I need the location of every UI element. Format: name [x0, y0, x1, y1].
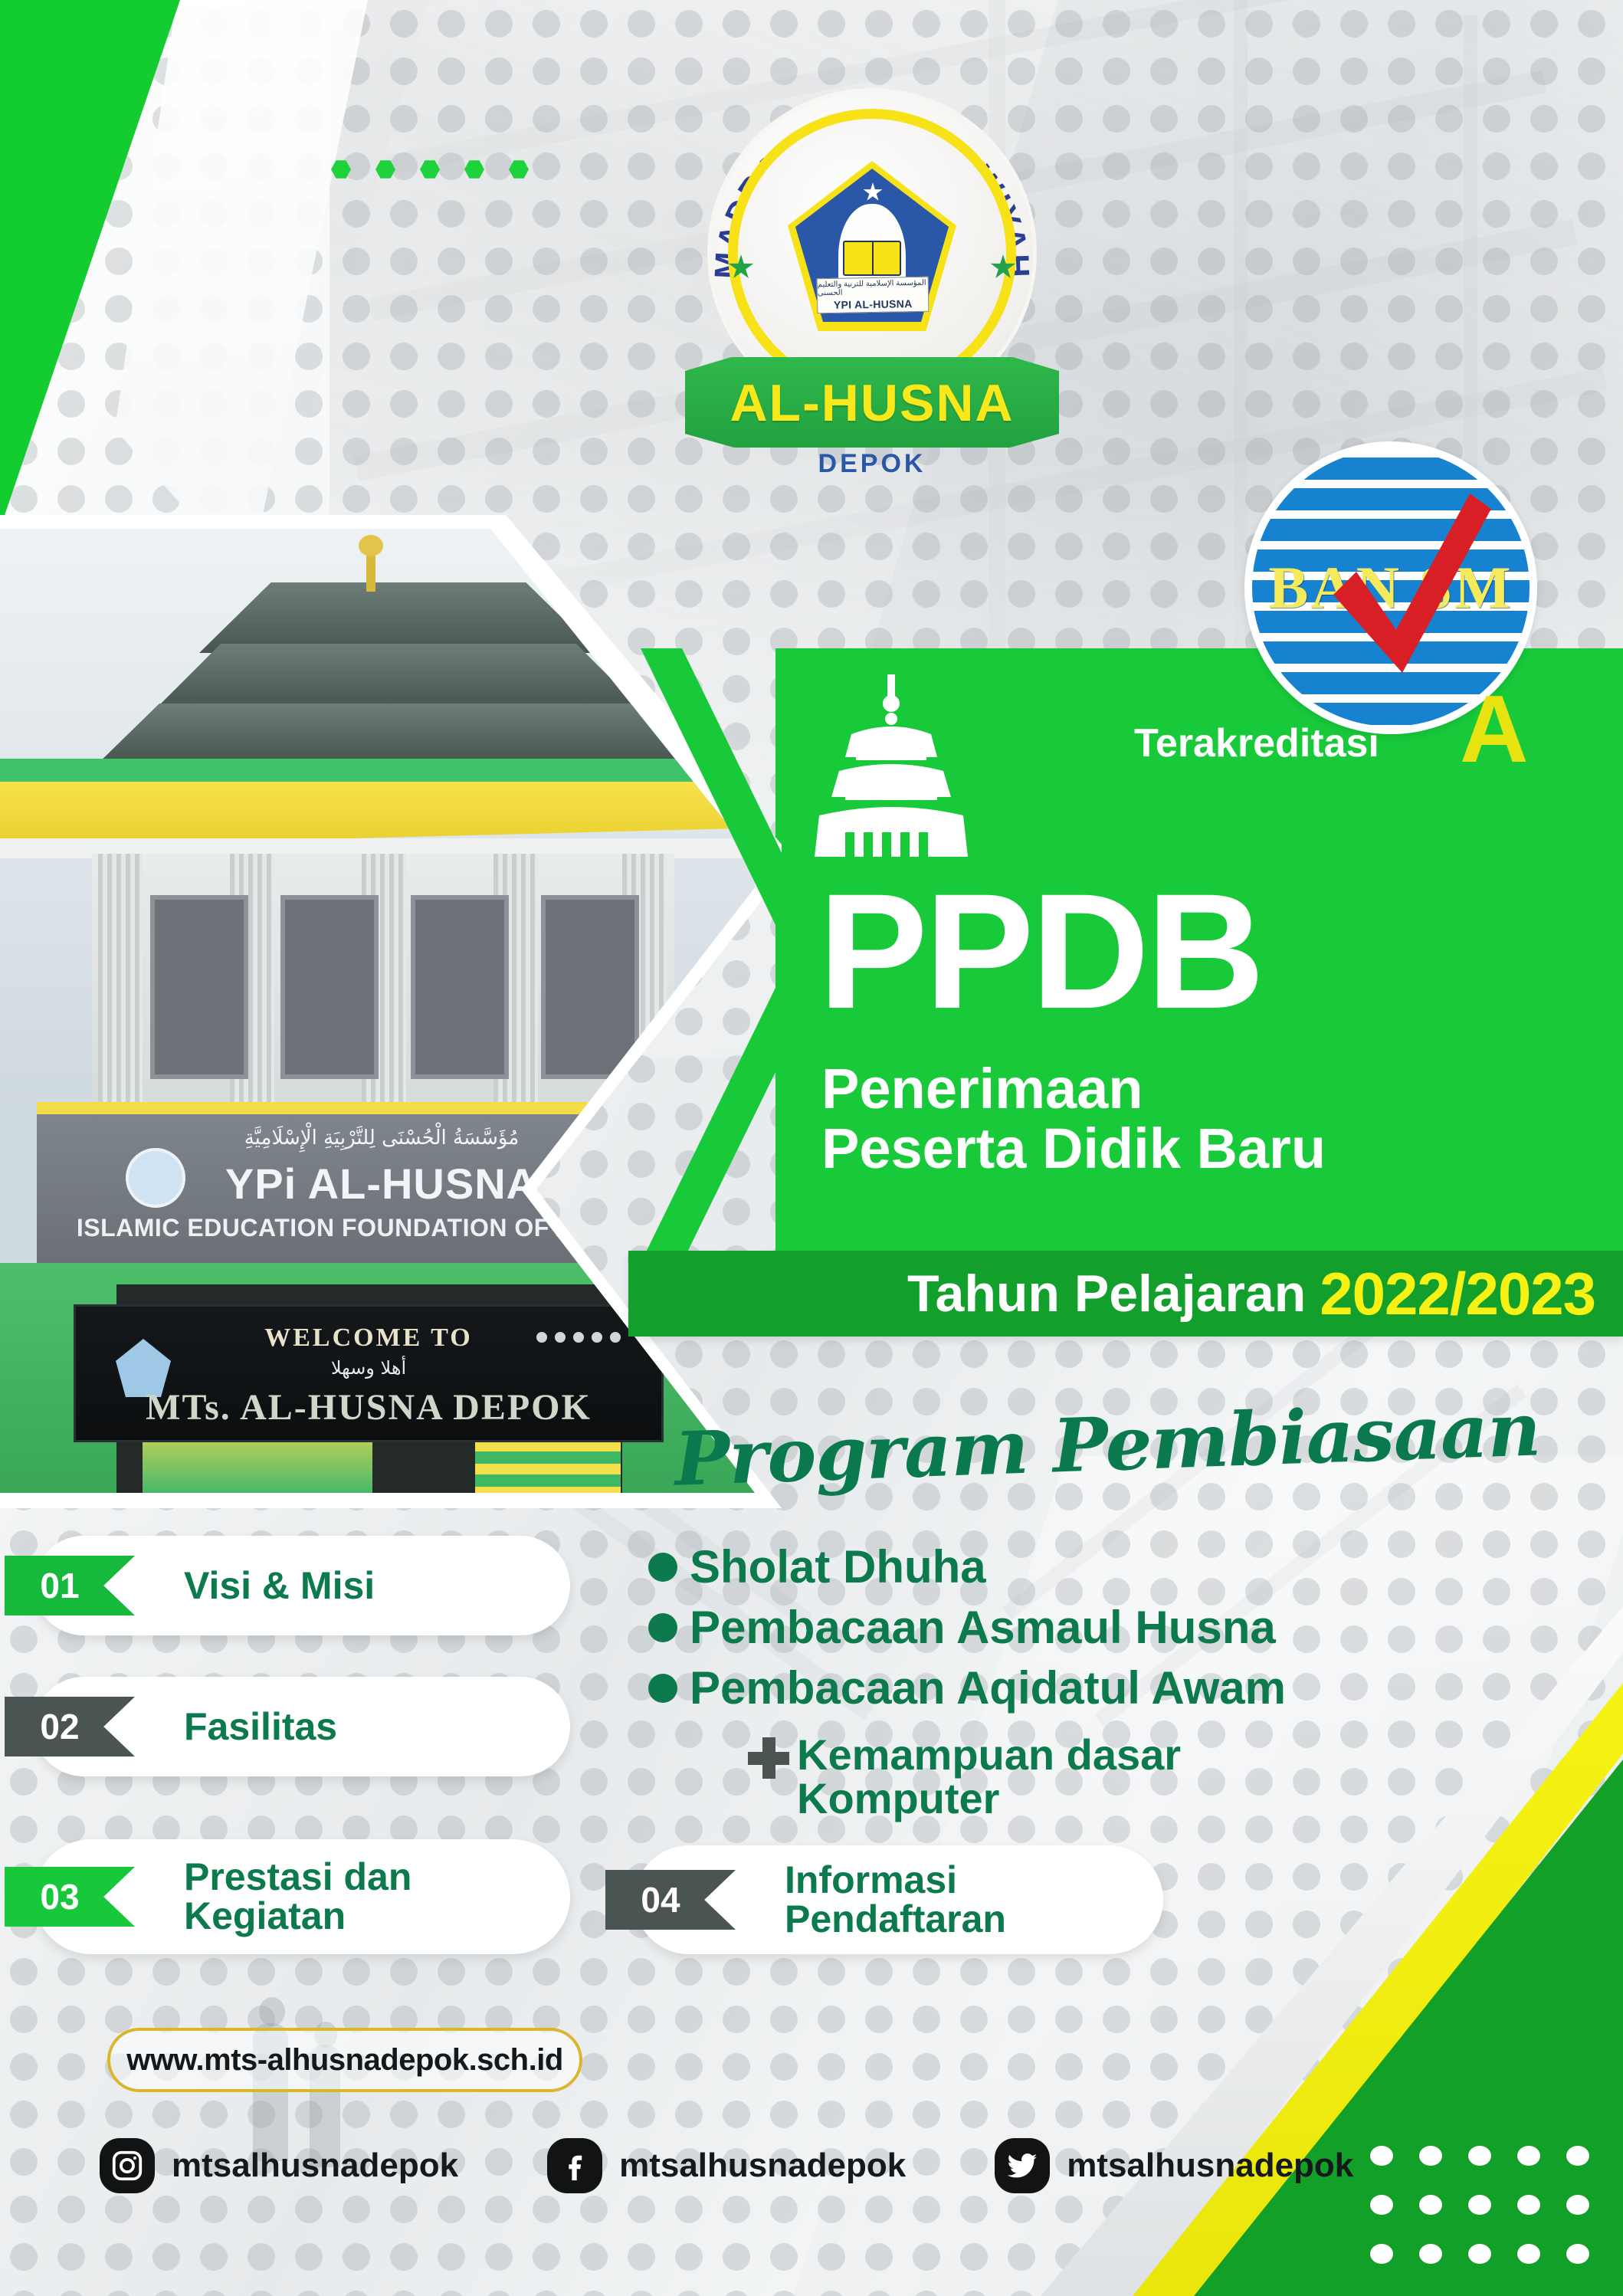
mosque-icon: [808, 674, 974, 858]
menu-label: Informasi Pendaftaran: [785, 1861, 1006, 1939]
corner-dot-grid: [1370, 2146, 1589, 2264]
welcome-line-2: MTs. AL-HUSNA DEPOK: [76, 1386, 661, 1428]
crest-scroll-arabic: المؤسسة الإسلامية للتربية والتعليم الحسن…: [818, 279, 928, 298]
school-year-label: Tahun Pelajaran: [907, 1264, 1306, 1323]
menu-number-badge: 02: [5, 1697, 135, 1756]
accreditation-label: Terakreditasi: [1134, 720, 1379, 766]
plus-icon: [748, 1737, 789, 1779]
hexagon-dot: [509, 159, 529, 179]
program-bullet-label: Pembacaan Aqidatul Awam: [690, 1661, 1286, 1714]
accreditation-grade: A: [1460, 682, 1529, 777]
entrance-led-dots: [536, 1332, 621, 1343]
crest-city-label: DEPOK: [665, 449, 1079, 479]
program-bullet-label: Sholat Dhuha: [690, 1540, 986, 1593]
twitter-icon: [995, 2138, 1050, 2193]
menu-label-line-1: Prestasi dan: [184, 1855, 411, 1898]
crest-ribbon: AL-HUSNA: [685, 357, 1059, 449]
ppdb-acronym: PPDB: [818, 881, 1262, 1022]
facebook-icon: [547, 2138, 602, 2193]
school-year-band: Tahun Pelajaran 2022/2023: [628, 1251, 1623, 1337]
school-year-value: 2022/2023: [1320, 1259, 1595, 1329]
red-check-icon: [1316, 480, 1500, 679]
ppdb-expansion-line-2: Peserta Didik Baru: [821, 1119, 1326, 1179]
hexagon-dot: [420, 159, 440, 179]
program-extra-text: Kemampuan dasar Komputer: [797, 1733, 1181, 1820]
bullet-dot-icon: [648, 1553, 677, 1582]
crest-open-book-icon: [843, 241, 901, 276]
program-bullet-label: Pembacaan Asmaul Husna: [690, 1601, 1276, 1654]
program-extra-line-2: Komputer: [797, 1774, 999, 1822]
social-twitter[interactable]: mtsalhusnadepok: [995, 2138, 1353, 2193]
silhouette-head-a: [259, 1997, 285, 2026]
menu-number-badge: 04: [605, 1870, 736, 1930]
menu-label: Fasilitas: [184, 1707, 337, 1747]
website-url[interactable]: www.mts-alhusnadepok.sch.id: [107, 2028, 582, 2092]
hexagon-dot-row: [331, 159, 529, 179]
social-handle: mtsalhusnadepok: [1067, 2147, 1353, 2185]
school-crest: MADRASAH TSANAWIYAH المؤسسة الإسلامية لل…: [665, 54, 1079, 529]
menu-label-line-1: Informasi: [785, 1858, 957, 1901]
welcome-signboard: WELCOME TO أهلا وسهلا MTs. AL-HUSNA DEPO…: [74, 1304, 664, 1442]
roof-spire-ball: [359, 535, 383, 556]
hexagon-dot: [464, 159, 484, 179]
hexagon-dot: [375, 159, 395, 179]
list-item: Pembacaan Asmaul Husna: [648, 1601, 1286, 1654]
crest-scroll-label: YPI AL-HUSNA: [834, 297, 913, 311]
menu-label: Visi & Misi: [184, 1566, 375, 1606]
bullet-dot-icon: [648, 1613, 677, 1642]
social-facebook[interactable]: mtsalhusnadepok: [547, 2138, 906, 2193]
program-bullet-list: Sholat Dhuha Pembacaan Asmaul Husna Pemb…: [648, 1540, 1286, 1820]
welcome-arabic: أهلا وسهلا: [76, 1357, 661, 1379]
ppdb-expansion: Penerimaan Peserta Didik Baru: [821, 1059, 1326, 1179]
social-handle: mtsalhusnadepok: [619, 2147, 906, 2185]
menu-item-visi-misi[interactable]: 01 Visi & Misi: [34, 1536, 570, 1635]
menu-item-prestasi-kegiatan[interactable]: 03 Prestasi dan Kegiatan: [34, 1839, 570, 1954]
roof-tier-2: [152, 644, 645, 713]
bullet-dot-icon: [648, 1674, 677, 1703]
menu-number-badge: 03: [5, 1867, 135, 1927]
instagram-icon: [100, 2138, 155, 2193]
menu-number-badge: 01: [5, 1556, 135, 1615]
menu-label: Prestasi dan Kegiatan: [184, 1858, 411, 1936]
ppdb-poster: MADRASAH TSANAWIYAH المؤسسة الإسلامية لل…: [0, 0, 1623, 2296]
menu-item-informasi-pendaftaran[interactable]: 04 Informasi Pendaftaran: [634, 1845, 1163, 1954]
social-links: mtsalhusnadepok mtsalhusnadepok mtsalhus…: [100, 2138, 1353, 2193]
list-item: Sholat Dhuha: [648, 1540, 1286, 1593]
menu-label-line-2: Pendaftaran: [785, 1897, 1006, 1940]
menu-label-line-2: Kegiatan: [184, 1894, 346, 1937]
list-item: Pembacaan Aqidatul Awam: [648, 1661, 1286, 1714]
social-handle: mtsalhusnadepok: [172, 2147, 458, 2185]
hexagon-dot: [331, 159, 351, 179]
program-extra-item: Kemampuan dasar Komputer: [748, 1733, 1286, 1820]
social-instagram[interactable]: mtsalhusnadepok: [100, 2138, 458, 2193]
crest-scroll: المؤسسة الإسلامية للتربية والتعليم الحسن…: [817, 277, 930, 314]
crest-ribbon-label: AL-HUSNA: [730, 373, 1014, 433]
program-extra-line-1: Kemampuan dasar: [797, 1730, 1181, 1779]
ppdb-expansion-line-1: Penerimaan: [821, 1059, 1326, 1119]
menu-item-fasilitas[interactable]: 02 Fasilitas: [34, 1677, 570, 1776]
